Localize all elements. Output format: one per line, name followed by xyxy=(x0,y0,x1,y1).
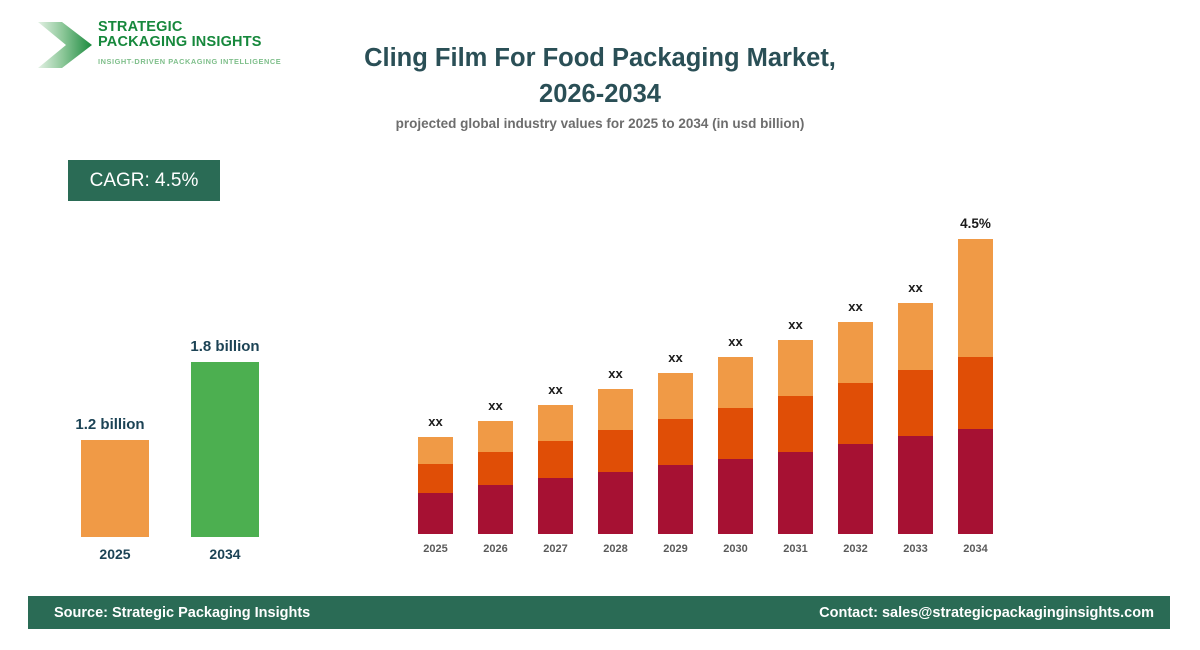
projection-stacked-chart: xx2025xx2026xx2027xx2028xx2029xx2030xx20… xyxy=(400,190,1040,560)
bar-value-label-2034: 4.5% xyxy=(946,216,1005,231)
stacked-bar-2025 xyxy=(418,437,453,534)
bar-value-label-2033: xx xyxy=(886,280,945,295)
bar-segment-segment-middle-2033 xyxy=(898,370,933,436)
logo-tagline: INSIGHT-DRIVEN PACKAGING INTELLIGENCE xyxy=(98,57,281,66)
bar-segment-segment-top-2032 xyxy=(838,322,873,383)
bar-value-label-2025: 1.2 billion xyxy=(45,416,175,433)
title-line-1: Cling Film For Food Packaging Market, xyxy=(300,40,900,76)
bar-value-label-2030: xx xyxy=(706,334,765,349)
bar-category-2030: 2030 xyxy=(706,543,765,555)
stacked-bar-2029 xyxy=(658,373,693,534)
stacked-bar-2028 xyxy=(598,389,633,534)
bar-value-label-2029: xx xyxy=(646,350,705,365)
bar-segment-segment-middle-2029 xyxy=(658,419,693,465)
endpoint-comparison-chart: 1.2 billion 1.8 billion 2025 2034 xyxy=(50,300,290,570)
page-title: Cling Film For Food Packaging Market, 20… xyxy=(300,40,900,112)
bar-2025 xyxy=(81,440,149,537)
bar-segment-segment-bottom-2033 xyxy=(898,436,933,534)
stacked-bar-2034 xyxy=(958,239,993,534)
bar-segment-segment-bottom-2032 xyxy=(838,444,873,534)
bar-category-2027: 2027 xyxy=(526,543,585,555)
stacked-bar-2027 xyxy=(538,405,573,534)
stacked-bar-2032 xyxy=(838,322,873,534)
logo-line-1: STRATEGIC xyxy=(98,20,281,35)
bar-value-label-2025: xx xyxy=(406,414,465,429)
bar-segment-segment-top-2033 xyxy=(898,303,933,370)
bar-segment-segment-bottom-2030 xyxy=(718,459,753,534)
footer-contact: Contact: sales@strategicpackaginginsight… xyxy=(819,596,1154,629)
bar-segment-segment-top-2025 xyxy=(418,437,453,464)
bar-category-2029: 2029 xyxy=(646,543,705,555)
bar-category-2025: 2025 xyxy=(81,546,149,562)
page-subtitle: projected global industry values for 202… xyxy=(300,116,900,131)
bar-segment-segment-top-2028 xyxy=(598,389,633,430)
bar-category-2034: 2034 xyxy=(946,543,1005,555)
bar-segment-segment-top-2031 xyxy=(778,340,813,396)
bar-category-2032: 2032 xyxy=(826,543,885,555)
bar-segment-segment-top-2030 xyxy=(718,357,753,408)
bar-segment-segment-top-2026 xyxy=(478,421,513,452)
green-chevron-icon xyxy=(36,20,94,70)
cagr-badge: CAGR: 4.5% xyxy=(68,160,220,201)
bar-segment-segment-middle-2034 xyxy=(958,357,993,429)
footer-source: Source: Strategic Packaging Insights xyxy=(54,596,310,629)
bar-segment-segment-bottom-2026 xyxy=(478,485,513,534)
bar-category-2031: 2031 xyxy=(766,543,825,555)
logo-wordmark: STRATEGIC PACKAGING INSIGHTS INSIGHT-DRI… xyxy=(98,20,281,66)
bar-segment-segment-middle-2027 xyxy=(538,441,573,478)
bar-segment-segment-bottom-2025 xyxy=(418,493,453,534)
bar-value-label-2032: xx xyxy=(826,299,885,314)
bar-value-label-2034: 1.8 billion xyxy=(160,338,290,355)
bar-category-2034: 2034 xyxy=(191,546,259,562)
brand-logo: STRATEGIC PACKAGING INSIGHTS INSIGHT-DRI… xyxy=(32,14,252,76)
bar-segment-segment-middle-2032 xyxy=(838,383,873,444)
footer-bar: Source: Strategic Packaging Insights Con… xyxy=(28,596,1170,629)
bar-2034 xyxy=(191,362,259,537)
bar-segment-segment-middle-2026 xyxy=(478,452,513,485)
bar-value-label-2031: xx xyxy=(766,317,825,332)
bar-value-label-2026: xx xyxy=(466,398,525,413)
bar-category-2028: 2028 xyxy=(586,543,645,555)
bar-segment-segment-middle-2030 xyxy=(718,408,753,459)
logo-line-2: PACKAGING INSIGHTS xyxy=(98,35,281,50)
bar-segment-segment-middle-2025 xyxy=(418,464,453,493)
bar-segment-segment-bottom-2027 xyxy=(538,478,573,534)
bar-category-2033: 2033 xyxy=(886,543,945,555)
stacked-bar-2031 xyxy=(778,340,813,534)
stacked-bar-2030 xyxy=(718,357,753,534)
stacked-bar-2033 xyxy=(898,303,933,534)
bar-segment-segment-top-2029 xyxy=(658,373,693,419)
bar-segment-segment-middle-2031 xyxy=(778,396,813,452)
title-line-2: 2026-2034 xyxy=(300,76,900,112)
stacked-bar-2026 xyxy=(478,421,513,534)
bar-segment-segment-top-2034 xyxy=(958,239,993,357)
bar-segment-segment-middle-2028 xyxy=(598,430,633,472)
bar-value-label-2028: xx xyxy=(586,366,645,381)
bar-segment-segment-bottom-2034 xyxy=(958,429,993,534)
bar-value-label-2027: xx xyxy=(526,382,585,397)
bar-category-2025: 2025 xyxy=(406,543,465,555)
bar-segment-segment-bottom-2028 xyxy=(598,472,633,534)
bar-segment-segment-top-2027 xyxy=(538,405,573,441)
infographic-canvas: STRATEGIC PACKAGING INSIGHTS INSIGHT-DRI… xyxy=(0,0,1200,650)
bar-segment-segment-bottom-2029 xyxy=(658,465,693,534)
bar-segment-segment-bottom-2031 xyxy=(778,452,813,534)
bar-category-2026: 2026 xyxy=(466,543,525,555)
